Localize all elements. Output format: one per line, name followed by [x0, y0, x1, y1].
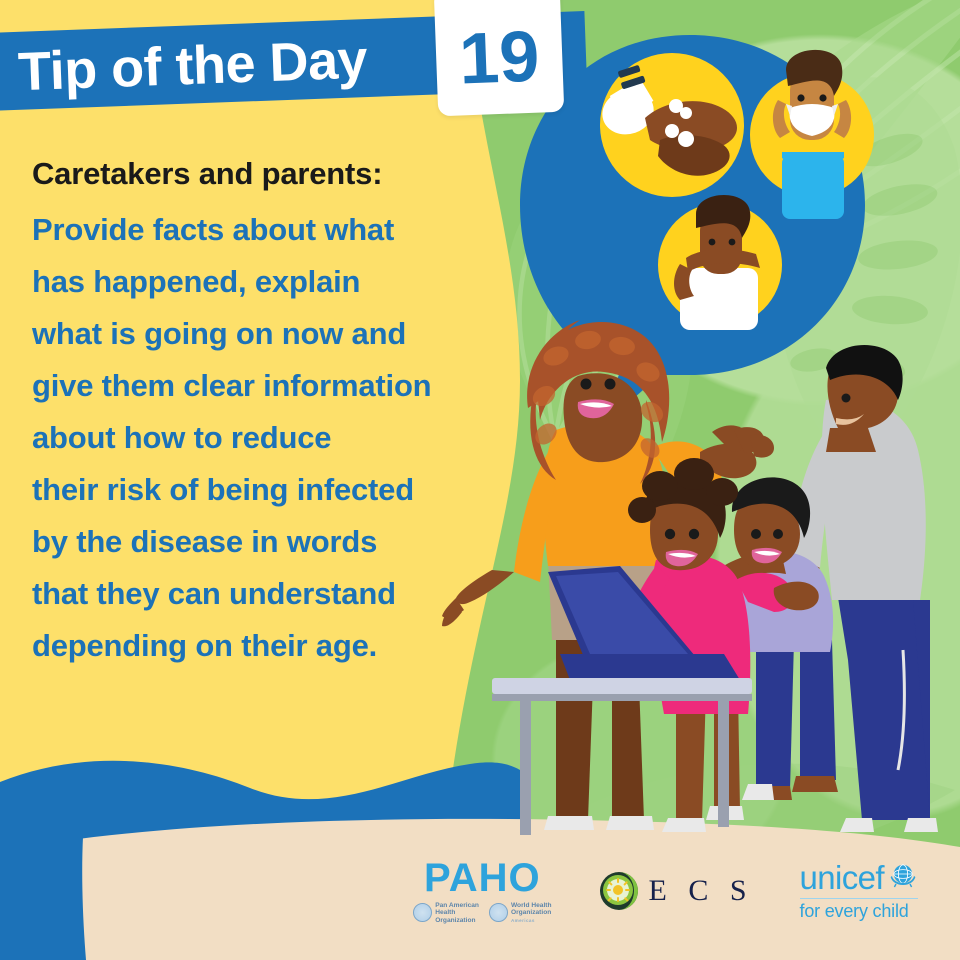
ecs-logo: E C S [598, 870, 754, 912]
unicef-divider [800, 898, 918, 900]
world-health-org: World Health Organization Americas [489, 902, 552, 925]
paho-org2-line3: Americas [511, 918, 535, 923]
paho-org1-line2: Health [435, 909, 455, 916]
paho-wordmark: PAHO [424, 858, 541, 898]
paho-org2-line1: World Health [511, 902, 552, 909]
tip-line: about how to reduce [32, 412, 502, 464]
tip-line: depending on their age. [32, 620, 502, 672]
face-mask-icon [750, 50, 874, 219]
unicef-logo: unicef for every child [800, 860, 918, 922]
day-number: 19 [434, 0, 565, 116]
unicef-emblem-icon [888, 860, 918, 895]
tip-lead: Caretakers and parents: [32, 148, 502, 200]
unicef-wordmark: unicef [800, 861, 884, 894]
ecs-wordmark: E C S [649, 876, 754, 906]
handwashing-icon [596, 53, 744, 197]
tip-line: what is going on now and [32, 308, 502, 360]
paho-seal-icon [413, 903, 432, 922]
paho-sublogos: Pan American Health Organization World H… [413, 902, 551, 925]
who-seal-icon [489, 903, 508, 922]
logo-row: PAHO Pan American Health Organization Wo… [0, 848, 960, 934]
ecs-mark-icon [598, 870, 640, 912]
cough-into-elbow-icon [658, 195, 782, 330]
tip-text-block: Caretakers and parents: Provide facts ab… [32, 148, 502, 672]
tip-line: Provide facts about what [32, 204, 502, 256]
poster-canvas: Tip of the Day 19 Caretakers and parents… [0, 0, 960, 960]
tip-line: their risk of being infected [32, 464, 502, 516]
paho-org1-line3: Organization [435, 917, 475, 924]
pan-american-health-org: Pan American Health Organization [413, 902, 479, 925]
unicef-tagline: for every child [800, 902, 918, 922]
paho-org2-line2: Organization [511, 909, 551, 916]
paho-org1-line1: Pan American [435, 902, 479, 909]
paho-logo: PAHO Pan American Health Organization Wo… [413, 858, 551, 925]
tip-line: by the disease in words [32, 516, 502, 568]
tip-line: give them clear information [32, 360, 502, 412]
tip-paragraph: Provide facts about what has happened, e… [32, 204, 502, 672]
tip-line: has happened, explain [32, 256, 502, 308]
tip-line: that they can understand [32, 568, 502, 620]
